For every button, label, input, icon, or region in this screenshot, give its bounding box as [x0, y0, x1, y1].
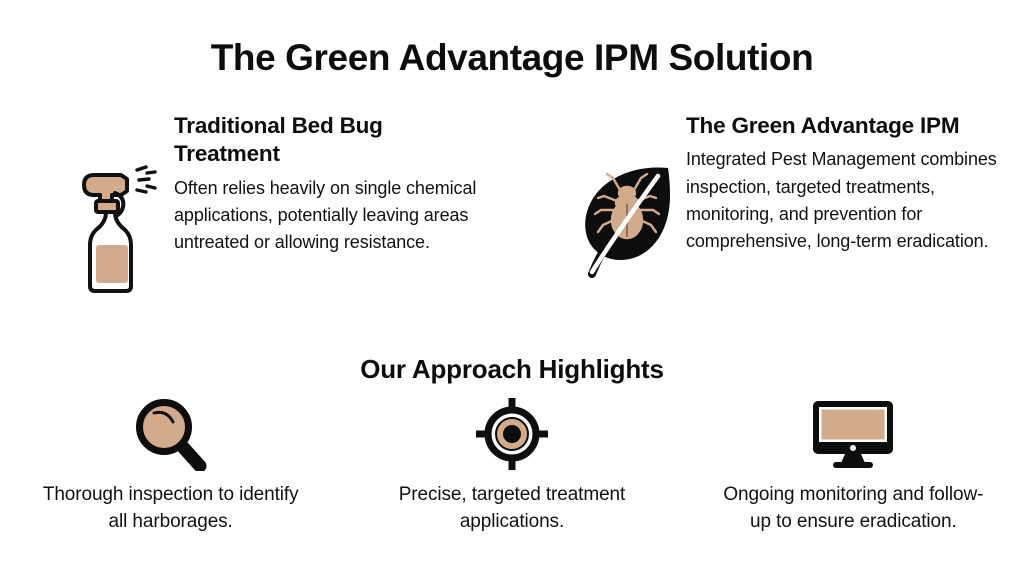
highlight-item-inspection: Thorough inspection to identify all harb… — [0, 396, 341, 536]
highlight-caption: Ongoing monitoring and follow-up to ensu… — [716, 482, 991, 536]
comparison-column-green-advantage: The Green Advantage IPM Integrated Pest … — [512, 112, 1024, 332]
page-title: The Green Advantage IPM Solution — [0, 38, 1024, 79]
magnifying-glass-icon — [132, 396, 210, 472]
comparison-row: Traditional Bed Bug Treatment Often reli… — [0, 112, 1024, 332]
comparison-column-traditional: Traditional Bed Bug Treatment Often reli… — [0, 112, 512, 332]
comparison-text-green-advantage: The Green Advantage IPM Integrated Pest … — [678, 112, 1004, 256]
comparison-text-traditional: Traditional Bed Bug Treatment Often reli… — [166, 112, 492, 257]
spray-bottle-icon — [62, 112, 166, 294]
leaf-bedbug-icon — [574, 112, 678, 280]
infographic-page: The Green Advantage IPM Solution — [0, 0, 1024, 572]
desktop-monitor-icon — [811, 396, 895, 472]
highlights-section-title: Our Approach Highlights — [0, 354, 1024, 385]
comparison-body: Often relies heavily on single chemical … — [174, 175, 492, 257]
comparison-heading: Traditional Bed Bug Treatment — [174, 112, 492, 169]
highlight-item-targeted-treatment: Precise, targeted treatment applications… — [341, 396, 682, 536]
highlight-caption: Precise, targeted treatment applications… — [374, 482, 649, 536]
highlight-caption: Thorough inspection to identify all harb… — [33, 482, 308, 536]
target-crosshair-icon — [475, 396, 549, 472]
highlights-row: Thorough inspection to identify all harb… — [0, 396, 1024, 536]
comparison-heading: The Green Advantage IPM — [686, 112, 1004, 140]
highlight-item-monitoring: Ongoing monitoring and follow-up to ensu… — [683, 396, 1024, 536]
comparison-body: Integrated Pest Management combines insp… — [686, 146, 1004, 255]
